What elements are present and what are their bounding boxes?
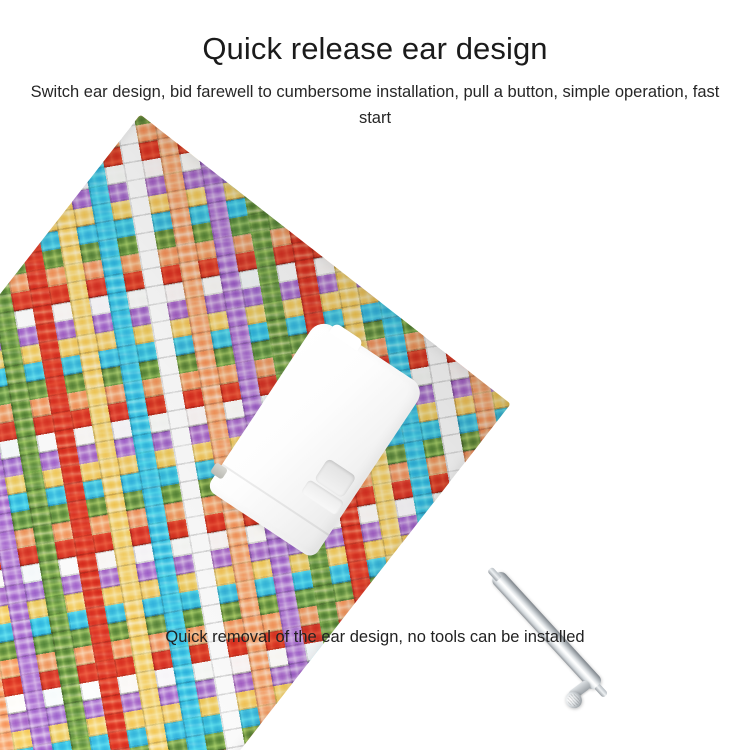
product-photo bbox=[0, 150, 750, 670]
product-feature-image: Quick release ear design Switch ear desi… bbox=[0, 0, 750, 750]
spring-bar-tip-bottom bbox=[594, 684, 608, 698]
page-title: Quick release ear design bbox=[0, 32, 750, 66]
photo-caption: Quick removal of the ear design, no tool… bbox=[0, 628, 750, 647]
header-block: Quick release ear design Switch ear desi… bbox=[0, 0, 750, 131]
page-subtitle: Switch ear design, bid farewell to cumbe… bbox=[0, 80, 750, 131]
